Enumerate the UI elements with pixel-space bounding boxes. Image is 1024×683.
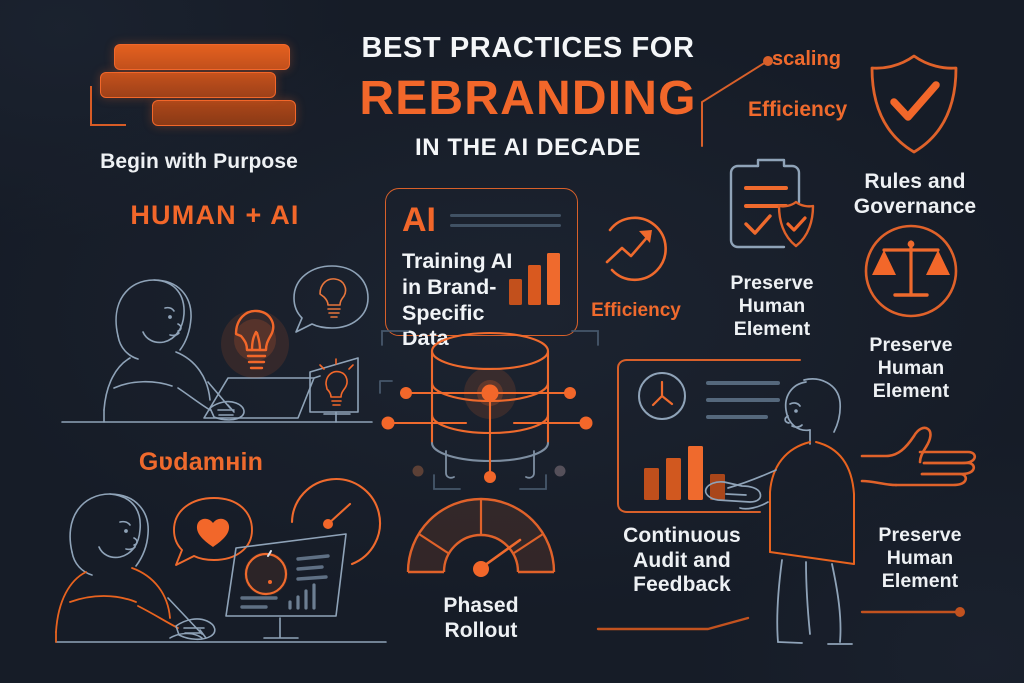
mouth-2 — [126, 547, 135, 549]
trend-arrow-circle-icon — [598, 218, 674, 292]
ai-card-bar-chart — [507, 251, 565, 305]
begin-with-purpose-caption: Begin with Purpose — [74, 150, 324, 175]
hand-outline-2 — [176, 619, 215, 639]
begin-with-purpose-block: Begin with Purpose — [100, 44, 324, 175]
db-top-ellipse — [432, 333, 548, 369]
orange-shirt — [56, 568, 178, 642]
audit-caption-block: Continuous Audit and Feedback — [592, 524, 772, 598]
stacked-bars-icon — [100, 44, 300, 128]
governance-caption-line-2: Governance — [838, 195, 992, 220]
shield-badge — [779, 202, 813, 246]
scale-pivot — [908, 241, 915, 248]
shield-check-icon — [866, 52, 962, 156]
hair-outline-2 — [70, 494, 148, 566]
efficiency-label-top: Efficiency — [748, 98, 847, 122]
node-right-upper — [564, 387, 576, 399]
poster-header: BEST PRACTICES FOR REBRANDING IN THE AI … — [332, 32, 724, 162]
phased-rollout-caption-line-1: Phased — [400, 594, 562, 619]
helping-hand-icon — [862, 422, 990, 502]
scaling-label: scaling — [772, 48, 841, 71]
eyebrow-2 — [120, 522, 130, 525]
clipboard-caption-line-3: Element — [706, 318, 838, 341]
monitor-stand — [264, 618, 298, 638]
human-ai-block: HUMAN + AI — [60, 200, 370, 231]
header-line-1: BEST PRACTICES FOR — [332, 32, 724, 65]
gauge-hub — [473, 561, 489, 577]
thought-bubble-outline — [294, 266, 368, 332]
human-ai-heading: HUMAN + AI — [60, 200, 370, 231]
clipboard-check-shield-icon — [722, 158, 822, 258]
audit-caption-line-3: Feedback — [592, 573, 772, 598]
thumb-line — [862, 428, 930, 462]
speed-gauge-icon — [292, 479, 380, 564]
finger-1 — [920, 452, 975, 463]
eye-dot — [168, 315, 172, 319]
pen-body — [208, 382, 230, 408]
node-dim-right — [555, 466, 566, 477]
hands-caption-line-1: Preserve — [856, 524, 984, 547]
ai-card-rule-lines — [450, 214, 561, 227]
man-eye — [794, 409, 798, 413]
audit-caption-line-1: Continuous — [592, 524, 772, 549]
tablet-stand — [324, 412, 350, 422]
scales-caption-line-2: Human — [845, 357, 977, 380]
scales-caption-line-3: Element — [845, 380, 977, 403]
monitor-bar-chart — [290, 585, 314, 608]
node-left-upper — [400, 387, 412, 399]
governance-block: Rules and Governance — [866, 52, 992, 219]
nose — [178, 324, 181, 331]
node-bottom — [484, 471, 496, 483]
bar-layer-top — [114, 44, 290, 70]
scales-caption-line-1: Preserve — [845, 334, 977, 357]
bubble-lightbulb-icon — [320, 279, 346, 317]
man-hair — [804, 379, 840, 432]
bar-layer-bottom — [152, 100, 296, 126]
checkmark-glyph — [894, 85, 936, 117]
node-right-lower — [580, 417, 593, 430]
glowing-lightbulb-icon — [221, 310, 289, 378]
node-center — [482, 385, 499, 402]
clipboard-block: Preserve Human Element — [722, 158, 838, 340]
scale-pan-left — [872, 250, 896, 275]
scales-block: Preserve Human Element — [862, 222, 977, 402]
finger-3 — [896, 474, 966, 485]
man-legs — [777, 560, 852, 644]
sleeve-seam — [114, 382, 172, 388]
mouth — [170, 333, 179, 335]
man-shirt — [770, 442, 854, 564]
wrist-line — [862, 481, 896, 485]
tablet-lightbulb-icon — [320, 359, 353, 405]
header-line-3: IN THE AI DECADE — [332, 134, 724, 162]
node-left-lower — [382, 417, 395, 430]
clipboard-caption-line-1: Preserve — [706, 272, 838, 295]
ai-card-badge: AI — [402, 203, 436, 237]
hands-block: Preserve Human Element — [862, 422, 990, 618]
header-brand-title: REBRANDING — [332, 75, 724, 123]
hair-back — [118, 336, 138, 359]
balance-scales-circle-icon — [862, 222, 960, 320]
segmented-gauge-icon — [400, 498, 562, 578]
man-eyebrow — [790, 403, 800, 406]
phased-rollout-block: Phased Rollout — [400, 498, 562, 643]
infographic-poster: BEST PRACTICES FOR REBRANDING IN THE AI … — [0, 0, 1024, 683]
pen-tip — [228, 405, 234, 412]
phased-rollout-caption-line-2: Rollout — [400, 619, 562, 644]
clock-icon — [639, 373, 685, 419]
bar-layer-middle — [100, 72, 276, 98]
ai-training-card[interactable]: AI Training AI in Brand-Specific Data — [385, 188, 578, 336]
hands-underline — [860, 606, 970, 618]
clipboard-check — [746, 216, 770, 233]
donut-chart-icon — [244, 551, 288, 596]
nose-2 — [134, 538, 137, 545]
clipboard-caption-line-2: Human — [706, 295, 838, 318]
finger-2 — [922, 463, 974, 474]
scale-pan-right — [926, 250, 950, 275]
audit-caption-line-2: Audit and — [592, 549, 772, 574]
audit-underline — [596, 616, 756, 632]
dashboard-text-lines — [708, 383, 778, 417]
laptop-hinge — [314, 376, 320, 378]
dashboard-bar-chart — [644, 446, 725, 500]
hands-caption-line-2: Human — [856, 547, 984, 570]
hair-back-2 — [72, 552, 92, 575]
man-finger-line — [726, 494, 746, 495]
man-arm-lower — [740, 502, 768, 509]
hands-caption-line-3: Element — [856, 570, 984, 593]
governance-caption-line-1: Rules and — [838, 170, 992, 195]
node-dim-left — [413, 466, 424, 477]
arm-line — [178, 388, 210, 410]
finger-lines — [218, 410, 234, 415]
heart-icon — [197, 519, 229, 547]
human-ai-illustration — [58, 240, 376, 430]
efficiency-arc-label: Efficiency — [580, 300, 692, 322]
shoulder-right — [176, 352, 210, 400]
efficiency-arc-block — [598, 218, 674, 292]
hair-outline — [116, 280, 191, 350]
audit-illustration — [600, 352, 860, 652]
monitor-text-lines-2 — [242, 598, 276, 607]
database-illustration — [374, 325, 606, 495]
monitor-text-lines — [298, 556, 328, 579]
collab-illustration — [50, 452, 390, 652]
eyebrow — [165, 308, 174, 311]
eye-dot-2 — [124, 529, 128, 533]
